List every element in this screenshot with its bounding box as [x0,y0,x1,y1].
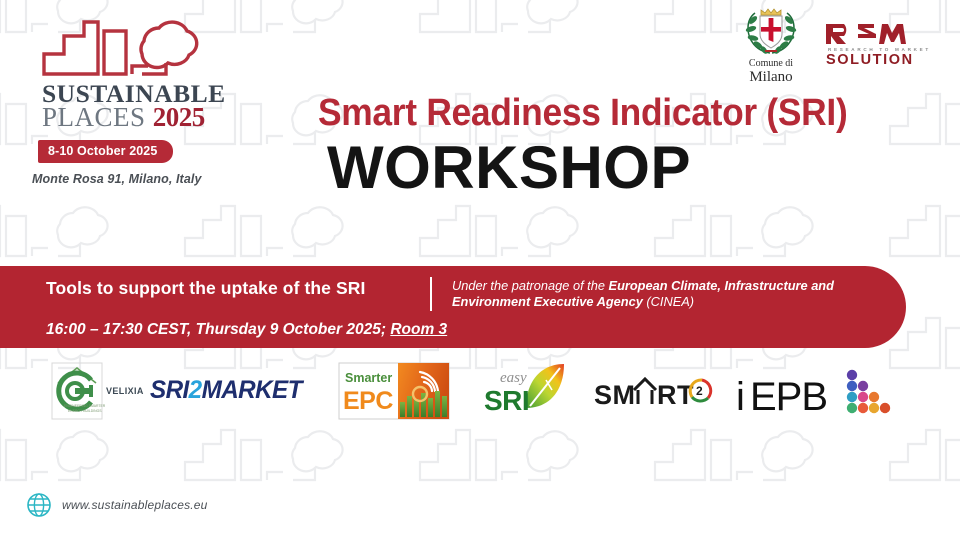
patronage-suffix: (CINEA) [643,294,694,309]
r2m-solution-label: SOLUTION [826,52,932,68]
svg-text:EPB: EPB [750,375,827,418]
session-heading: Tools to support the uptake of the SRI [46,278,365,299]
comune-di-milano-logo: Comune di Milano [736,6,806,85]
svg-text:i: i [736,375,745,418]
event-logo-block: SUSTAINABLE PLACES 2025 8-10 October 202… [30,16,230,186]
easy-sri-logo: easy SRI [474,360,566,420]
velixia-logo: VELIXIA ENGINEERING SMARTER ENERGY BUILD… [44,361,148,421]
svg-text:ENGINEERING SMARTER: ENGINEERING SMARTER [64,404,106,408]
event-address: Monte Rosa 91, Milano, Italy [32,172,230,186]
patronage-prefix: Under the patronage of the [452,278,609,293]
milano-city-label: Milano [736,70,806,86]
svg-text:SM: SM [594,380,636,410]
sri2market-market: MARKET [202,376,302,404]
page-title-sri: Smart Readiness Indicator (SRI) [318,94,847,134]
svg-text:VELIXIA: VELIXIA [106,386,144,396]
r2m-wordmark-icon [824,22,928,46]
svg-text:RT: RT [657,380,694,410]
milano-comune-label: Comune di [736,59,806,70]
milano-coat-of-arms-icon [743,6,799,58]
sri2market-sri: SRI [150,376,189,404]
session-time: 16:00 – 17:30 CEST, Thursday 9 October 2… [46,321,390,338]
svg-text:EPC: EPC [343,387,393,415]
globe-icon [26,492,52,518]
sustainable-places-buildings-tree-icon [40,16,206,78]
footer: www.sustainableplaces.eu [26,492,208,518]
wordmark-places-year: PLACES 2025 [42,105,230,130]
sri2market-logo: SRI2MARKET [150,376,302,405]
svg-text:2: 2 [696,384,703,398]
wordmark-places: PLACES [42,102,153,132]
sri2market-two: 2 [189,376,202,404]
event-date-badge: 8-10 October 2025 [38,140,173,163]
event-wordmark: SUSTAINABLE PLACES 2025 [42,82,230,130]
wordmark-year: 2025 [153,102,205,132]
svg-text:Smarter: Smarter [345,371,392,385]
poster-canvas: SUSTAINABLE PLACES 2025 8-10 October 202… [0,0,960,540]
iepb-logo: i EPB [736,366,892,418]
partner-logo-row: VELIXIA ENGINEERING SMARTER ENERGY BUILD… [0,360,960,426]
svg-text:ENERGY BUILDINGS: ENERGY BUILDINGS [68,409,102,413]
session-banner: Tools to support the uptake of the SRI U… [0,266,906,348]
smart2-logo: SM RT 2 [594,374,718,412]
footer-url: www.sustainableplaces.eu [62,498,208,512]
svg-text:easy: easy [500,370,527,386]
r2m-solution-logo: RESEARCH TO MARKET SOLUTION [824,22,932,68]
patronage-text: Under the patronage of the European Clim… [452,278,880,311]
title-block: Smart Readiness Indicator (SRI) WORKSHOP [318,94,887,199]
banner-divider [430,277,432,311]
smarter-epc-logo: Smarter EPC [338,362,450,420]
page-title-workshop: WORKSHOP [327,137,887,199]
session-time-line: 16:00 – 17:30 CEST, Thursday 9 October 2… [46,321,447,339]
session-room: Room 3 [390,321,447,338]
svg-text:SRI: SRI [484,385,529,416]
